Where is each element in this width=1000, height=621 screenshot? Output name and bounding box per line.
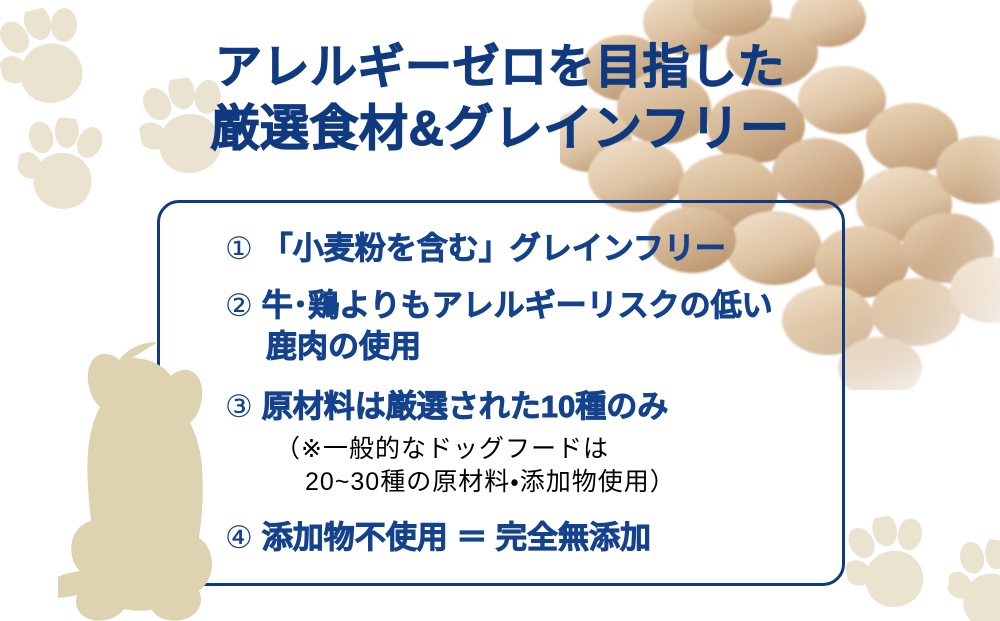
- feature-item-3-marker: ③: [225, 391, 253, 422]
- paw-print-bottom-right-outer: [942, 534, 1000, 621]
- feature-list: ① 「小麦粉を含む」グレインフリー ② 牛･鶏よりもアレルギーリスクの低い 鹿肉…: [157, 200, 845, 586]
- feature-item-2-text: 牛･鶏よりもアレルギーリスクの低い: [262, 289, 773, 322]
- feature-note: （※一般的なドッグフードは 20~30種の原材料・添加物使用）: [275, 433, 827, 499]
- paw-print-bottom-right-inner: [838, 509, 946, 621]
- feature-item-4: ④ 添加物不使用 ＝ 完全無添加: [225, 521, 827, 554]
- feature-item-4-text: 添加物不使用 ＝ 完全無添加: [262, 521, 651, 554]
- headline: アレルギーゼロを目指した 厳選食材&グレインフリー: [0, 36, 1000, 160]
- feature-item-3: ③ 原材料は厳選された10種のみ: [225, 390, 827, 423]
- feature-item-2: ② 牛･鶏よりもアレルギーリスクの低い 鹿肉の使用: [225, 289, 827, 363]
- feature-item-2-marker: ②: [225, 290, 253, 321]
- advertisement-canvas: アレルギーゼロを目指した 厳選食材&グレインフリー ① 「小麦粉を含む」グレイン…: [0, 0, 1000, 621]
- feature-item-3-text: 原材料は厳選された10種のみ: [262, 390, 668, 423]
- feature-note-line-1: （※一般的なドッグフードは: [275, 435, 609, 463]
- feature-item-4-marker: ④: [225, 522, 253, 553]
- feature-item-1-marker: ①: [225, 233, 253, 264]
- feature-note-line-2: 20~30種の原材料・添加物使用）: [275, 466, 827, 499]
- feature-item-1-text: 「小麦粉を含む」グレインフリー: [262, 232, 726, 265]
- headline-line-2: 厳選食材&グレインフリー: [0, 98, 1000, 160]
- headline-line-1: アレルギーゼロを目指した: [0, 36, 1000, 98]
- feature-item-2-text-continuation: 鹿肉の使用: [266, 330, 827, 363]
- feature-item-1: ① 「小麦粉を含む」グレインフリー: [225, 232, 827, 265]
